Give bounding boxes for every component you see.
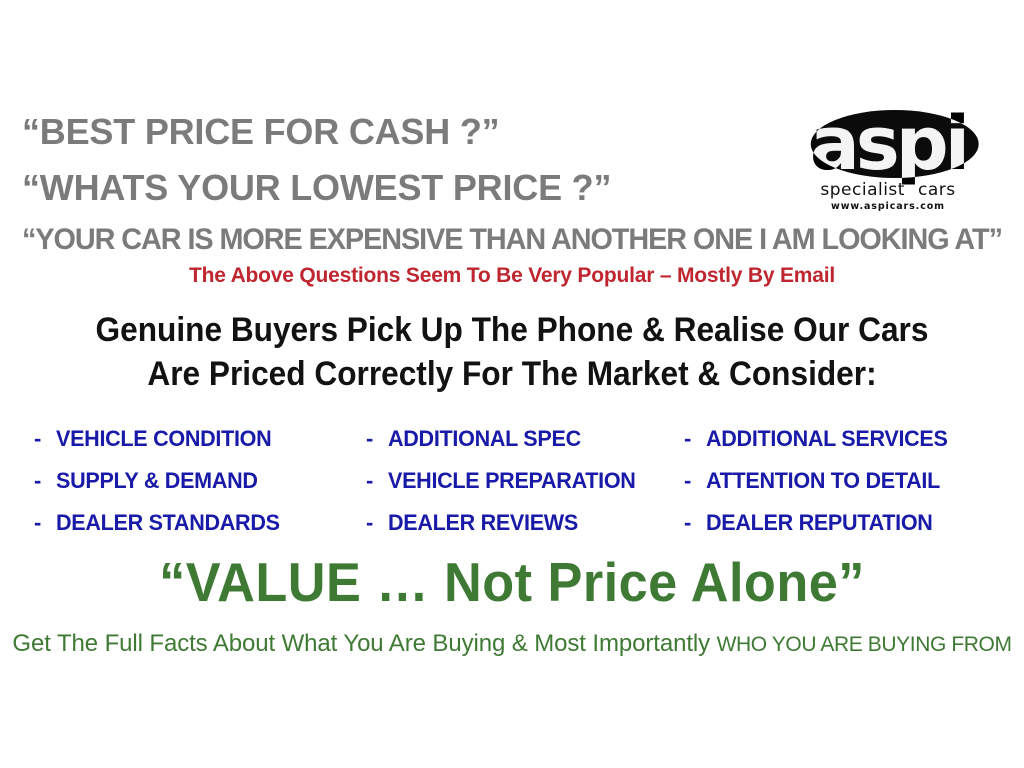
list-item: - DEALER REPUTATION bbox=[684, 502, 953, 544]
slide-canvas: aspi specialistcars www.aspicars.com “BE… bbox=[0, 0, 1024, 768]
list-item-label: VEHICLE PREPARATION bbox=[388, 460, 636, 502]
list-item-label: DEALER REVIEWS bbox=[388, 502, 578, 544]
bullet-dash-icon: - bbox=[366, 460, 388, 502]
list-item-label: DEALER REPUTATION bbox=[706, 502, 933, 544]
list-item: - ATTENTION TO DETAIL bbox=[684, 460, 953, 502]
value-tagline: “VALUE … Not Price Alone” bbox=[26, 550, 999, 614]
headline-line-1: Genuine Buyers Pick Up The Phone & Reali… bbox=[36, 308, 988, 352]
list-item: - DEALER REVIEWS bbox=[366, 502, 641, 544]
list-item: - VEHICLE CONDITION bbox=[34, 418, 284, 460]
logo-wordmark-text: aspi bbox=[810, 104, 966, 184]
list-item-label: ATTENTION TO DETAIL bbox=[706, 460, 940, 502]
footer-emphasis-text: WHO YOU ARE BUYING FROM bbox=[717, 633, 1012, 656]
main-headline: Genuine Buyers Pick Up The Phone & Reali… bbox=[0, 308, 1024, 396]
list-item-label: SUPPLY & DEMAND bbox=[56, 460, 258, 502]
footer-tagline: Get The Full Facts About What You Are Bu… bbox=[0, 630, 1024, 658]
bullet-dash-icon: - bbox=[34, 460, 56, 502]
factors-column-3: - ADDITIONAL SERVICES - ATTENTION TO DET… bbox=[684, 418, 953, 544]
headline-line-2: Are Priced Correctly For The Market & Co… bbox=[36, 352, 988, 396]
footer-normal-text: Get The Full Facts About What You Are Bu… bbox=[12, 630, 716, 657]
bullet-dash-icon: - bbox=[34, 502, 56, 544]
consideration-factors-list: - VEHICLE CONDITION - SUPPLY & DEMAND - … bbox=[0, 418, 1024, 543]
list-item-label: DEALER STANDARDS bbox=[56, 502, 280, 544]
bullet-dash-icon: - bbox=[684, 460, 706, 502]
list-item: - ADDITIONAL SPEC bbox=[366, 418, 641, 460]
list-item: - DEALER STANDARDS bbox=[34, 502, 284, 544]
list-item: - ADDITIONAL SERVICES bbox=[684, 418, 953, 460]
list-item: - VEHICLE PREPARATION bbox=[366, 460, 641, 502]
quote-your-car-is-more-expensive: “YOUR CAR IS MORE EXPENSIVE THAN ANOTHER… bbox=[22, 216, 968, 264]
bullet-dash-icon: - bbox=[684, 502, 706, 544]
factors-column-1: - VEHICLE CONDITION - SUPPLY & DEMAND - … bbox=[34, 418, 284, 544]
bullet-dash-icon: - bbox=[366, 418, 388, 460]
list-item-label: ADDITIONAL SERVICES bbox=[706, 418, 948, 460]
red-subline: The Above Questions Seem To Be Very Popu… bbox=[0, 264, 1024, 288]
list-item-label: ADDITIONAL SPEC bbox=[388, 418, 581, 460]
factors-column-2: - ADDITIONAL SPEC - VEHICLE PREPARATION … bbox=[366, 418, 641, 544]
list-item: - SUPPLY & DEMAND bbox=[34, 460, 284, 502]
bullet-dash-icon: - bbox=[684, 418, 706, 460]
bullet-dash-icon: - bbox=[34, 418, 56, 460]
bullet-dash-icon: - bbox=[366, 502, 388, 544]
list-item-label: VEHICLE CONDITION bbox=[56, 418, 271, 460]
